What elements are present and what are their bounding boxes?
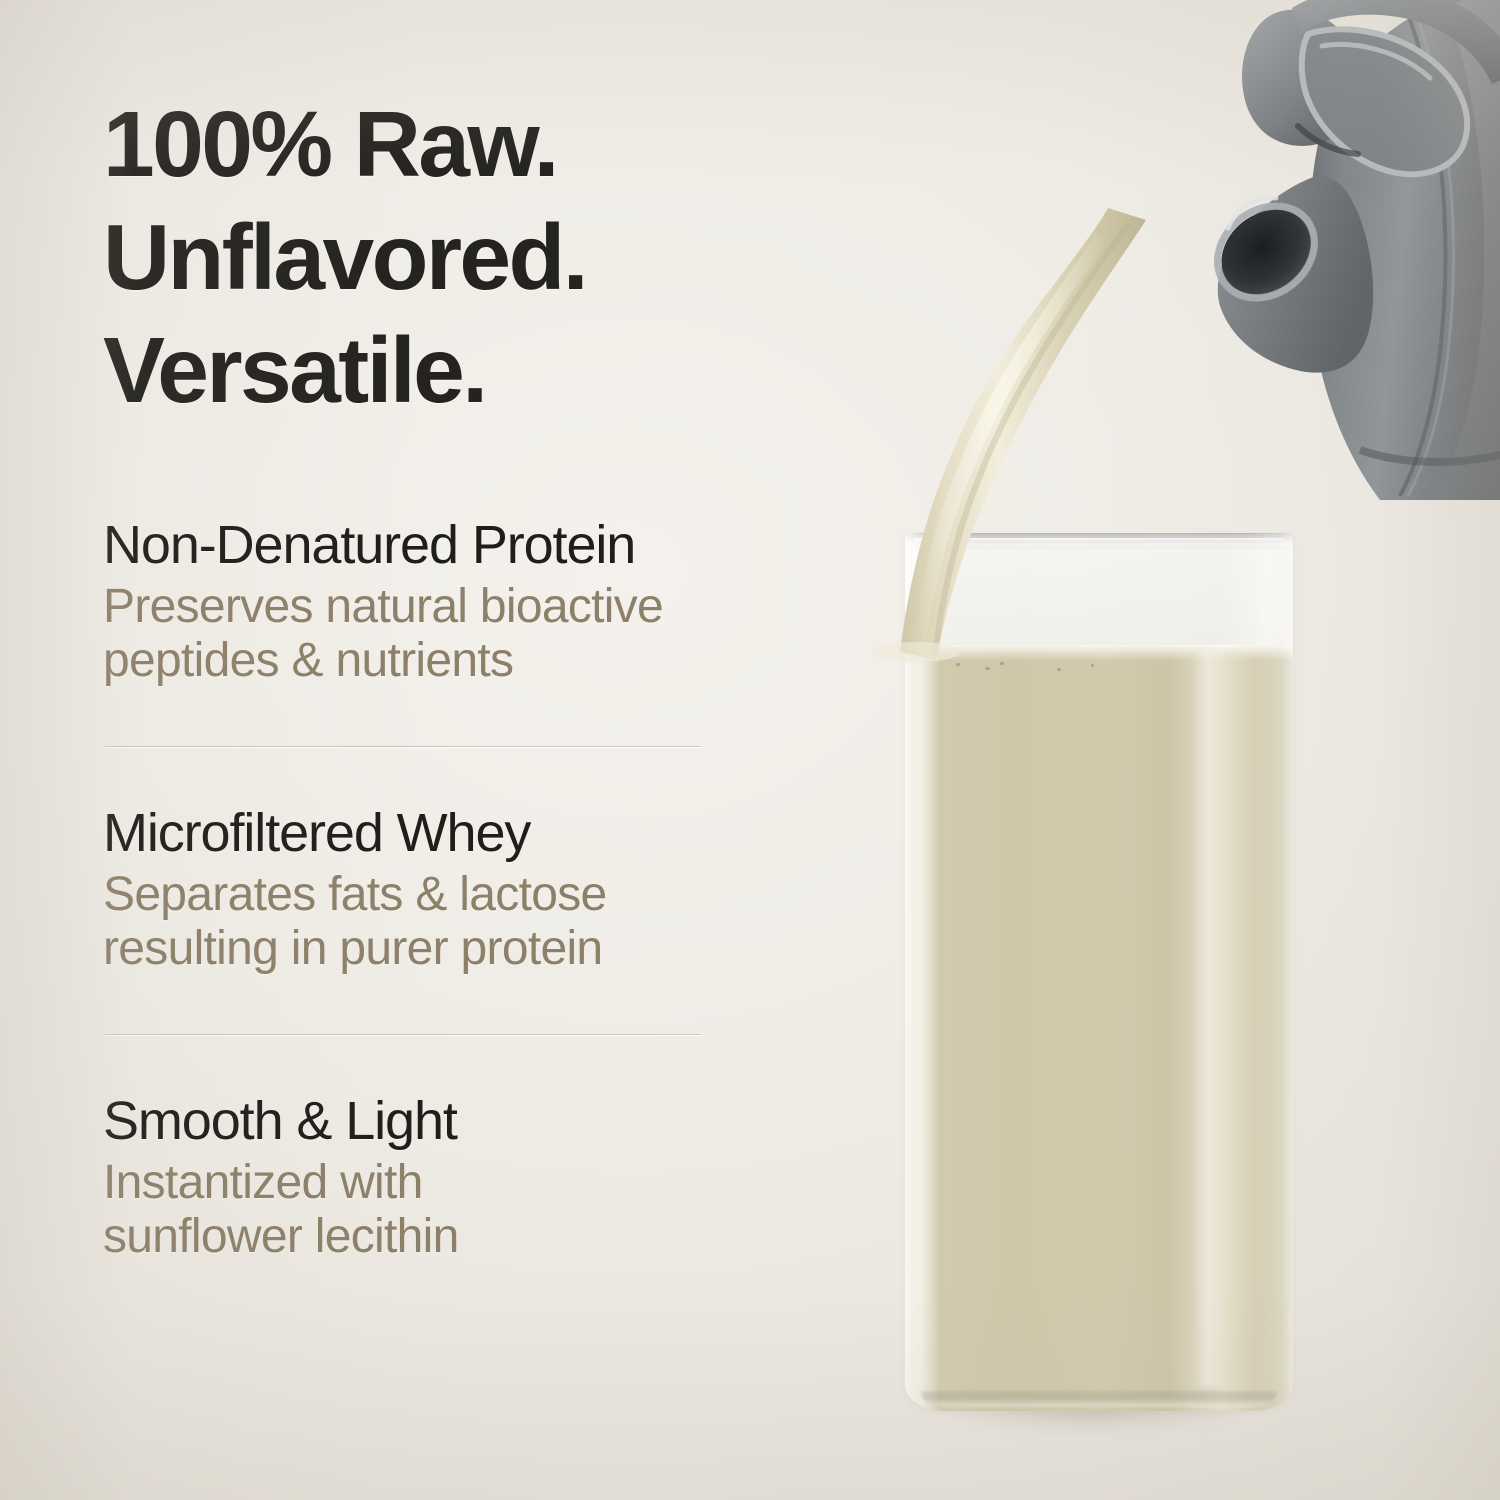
page-headline: 100% Raw. Unflavored. Versatile. xyxy=(103,88,743,427)
glass-liquid-fill xyxy=(905,645,1293,1411)
feature-description-line: sunflower lecithin xyxy=(103,1210,743,1264)
shaker-bottle-lid xyxy=(1210,0,1500,500)
feature-title: Microfiltered Whey xyxy=(103,803,743,863)
feature-description: Separates fats & lactose resulting in pu… xyxy=(103,868,743,976)
feature-title: Smooth & Light xyxy=(103,1091,743,1151)
headline-line-3: Versatile. xyxy=(103,314,743,427)
feature-description: Preserves natural bioactive peptides & n… xyxy=(103,580,743,688)
glass-base-gloss xyxy=(921,1391,1278,1407)
text-column: 100% Raw. Unflavored. Versatile. Non-Den… xyxy=(103,88,743,1264)
feature-item-non-denatured-protein: Non-Denatured Protein Preserves natural … xyxy=(103,515,743,688)
stream-entry-splash xyxy=(872,642,960,662)
feature-description-line: peptides & nutrients xyxy=(103,634,743,688)
glass-highlight-band xyxy=(1192,651,1227,1387)
feature-description-line: Separates fats & lactose xyxy=(103,868,743,922)
feature-description-line: resulting in purer protein xyxy=(103,922,743,976)
feature-description-line: Instantized with xyxy=(103,1156,743,1210)
pouring-liquid-stream xyxy=(840,200,1160,670)
feature-divider xyxy=(105,1034,701,1035)
feature-description-line: Preserves natural bioactive xyxy=(103,580,743,634)
stream-body xyxy=(900,208,1146,660)
feature-list: Non-Denatured Protein Preserves natural … xyxy=(103,515,743,1264)
product-feature-image: 100% Raw. Unflavored. Versatile. Non-Den… xyxy=(0,0,1500,1500)
feature-divider xyxy=(105,746,701,747)
feature-item-microfiltered-whey: Microfiltered Whey Separates fats & lact… xyxy=(103,803,743,976)
headline-line-1: 100% Raw. xyxy=(103,88,743,201)
feature-description: Instantized with sunflower lecithin xyxy=(103,1156,743,1264)
feature-item-smooth-and-light: Smooth & Light Instantized with sunflowe… xyxy=(103,1091,743,1264)
product-scene xyxy=(780,0,1500,1500)
feature-title: Non-Denatured Protein xyxy=(103,515,743,575)
headline-line-2: Unflavored. xyxy=(103,201,743,314)
